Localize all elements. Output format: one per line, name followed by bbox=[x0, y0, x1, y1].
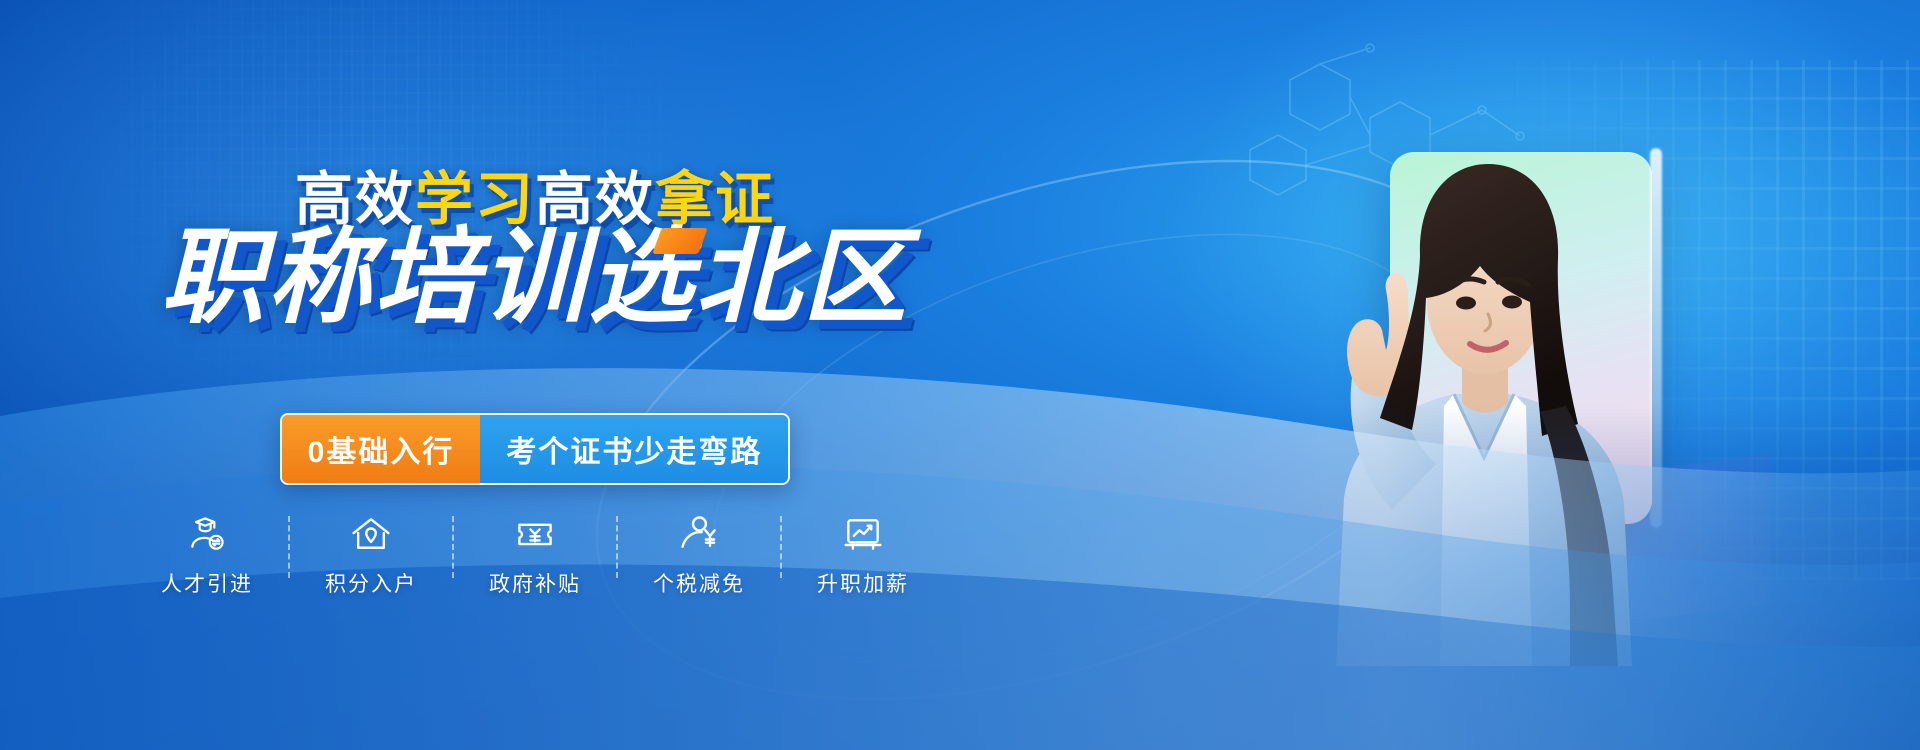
headline-text: 职称培训选北区 bbox=[160, 220, 909, 336]
feature-label: 政府补贴 bbox=[489, 568, 581, 598]
feature-item-talent[interactable]: 人才引进 bbox=[140, 512, 274, 598]
ticket-yuan-icon bbox=[513, 512, 557, 556]
tag-primary[interactable]: 0基础入行 bbox=[282, 415, 481, 483]
feature-divider bbox=[288, 516, 290, 578]
feature-item-residency[interactable]: 积分入户 bbox=[304, 512, 438, 598]
feature-label: 积分入户 bbox=[325, 568, 417, 598]
feature-label: 升职加薪 bbox=[817, 568, 909, 598]
tag-bar-inner: 0基础入行 考个证书少走弯路 bbox=[280, 413, 791, 485]
feature-row: 人才引进 积分入户 bbox=[0, 512, 1070, 598]
feature-label: 个税减免 bbox=[653, 568, 745, 598]
person-yuan-icon bbox=[677, 512, 721, 556]
chart-board-icon bbox=[841, 512, 885, 556]
feature-item-promotion[interactable]: 升职加薪 bbox=[796, 512, 930, 598]
headline-wrap: 职称培训选北区 bbox=[0, 222, 1070, 334]
feature-divider bbox=[616, 516, 618, 578]
feature-divider bbox=[452, 516, 454, 578]
graduate-person-icon bbox=[185, 512, 229, 556]
tag-secondary[interactable]: 考个证书少走弯路 bbox=[480, 415, 788, 483]
copy-block: 高效学习高效拿证 职称培训选北区 0基础入行 考个证书少走弯路 bbox=[0, 0, 1070, 750]
house-pin-icon bbox=[349, 512, 393, 556]
feature-item-tax[interactable]: 个税减免 bbox=[632, 512, 766, 598]
feature-label: 人才引进 bbox=[161, 568, 253, 598]
feature-divider bbox=[780, 516, 782, 578]
page-title: 职称培训选北区 bbox=[160, 222, 909, 334]
tag-bar: 0基础入行 考个证书少走弯路 bbox=[0, 413, 1070, 485]
promo-banner: 高效学习高效拿证 职称培训选北区 0基础入行 考个证书少走弯路 bbox=[0, 0, 1920, 750]
feature-item-subsidy[interactable]: 政府补贴 bbox=[468, 512, 602, 598]
